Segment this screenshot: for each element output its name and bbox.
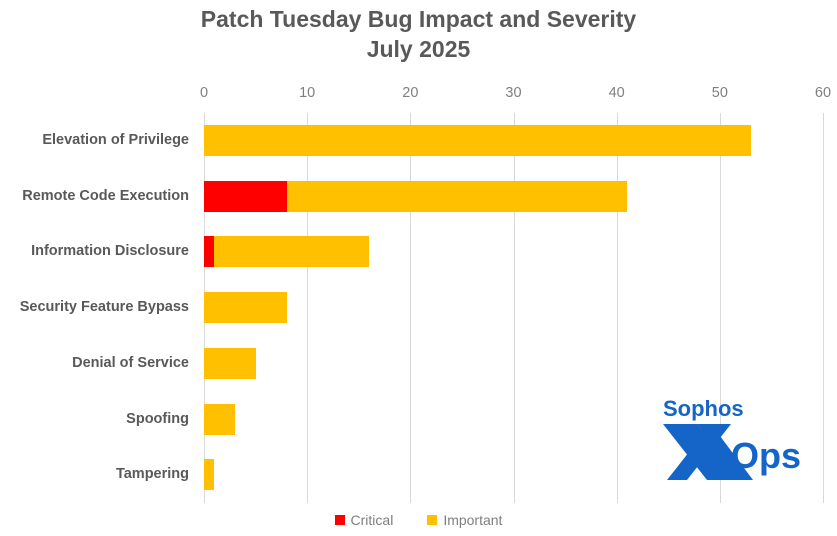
bar-important-spoofing[interactable] [204, 404, 235, 435]
legend-swatch-important [427, 515, 437, 525]
legend-item-critical[interactable]: Critical [335, 512, 394, 528]
x-axis-tick-label: 40 [597, 85, 637, 101]
category-label-security-feature-bypass: Security Feature Bypass [0, 292, 189, 323]
logo-brand-text: Sophos [663, 396, 744, 421]
x-axis-tick-label: 50 [700, 85, 740, 101]
x-axis-tick-label: 30 [494, 85, 534, 101]
bar-critical-information-disclosure[interactable] [204, 236, 214, 267]
bar-important-security-feature-bypass[interactable] [204, 292, 287, 323]
bar-important-denial-of-service[interactable] [204, 348, 256, 379]
chart-row: Denial of Service [204, 336, 823, 392]
chart-row: Security Feature Bypass [204, 280, 823, 336]
bar-important-elevation-of-privilege[interactable] [204, 125, 751, 156]
chart-legend: CriticalImportant [0, 512, 837, 528]
category-label-denial-of-service: Denial of Service [0, 348, 189, 379]
chart-row: Information Disclosure [204, 224, 823, 280]
category-label-remote-code-execution: Remote Code Execution [0, 181, 189, 212]
gridline [823, 113, 824, 503]
chart-container: Patch Tuesday Bug Impact and Severity Ju… [0, 0, 837, 536]
chart-title: Patch Tuesday Bug Impact and Severity Ju… [0, 4, 837, 64]
bar-important-information-disclosure[interactable] [214, 236, 369, 267]
legend-label: Critical [351, 512, 394, 528]
x-axis-tick-label: 0 [184, 85, 224, 101]
category-label-information-disclosure: Information Disclosure [0, 236, 189, 267]
chart-row: Remote Code Execution [204, 169, 823, 225]
legend-label: Important [443, 512, 502, 528]
chart-title-line-1: Patch Tuesday Bug Impact and Severity [201, 6, 636, 32]
category-label-tampering: Tampering [0, 459, 189, 490]
bar-important-tampering[interactable] [204, 459, 214, 490]
bar-critical-remote-code-execution[interactable] [204, 181, 287, 212]
legend-swatch-critical [335, 515, 345, 525]
x-axis-tick-label: 60 [803, 85, 837, 101]
sophos-x-ops-logo: Sophos -Ops [657, 394, 817, 482]
bar-important-remote-code-execution[interactable] [287, 181, 627, 212]
legend-item-important[interactable]: Important [427, 512, 502, 528]
chart-row: Elevation of Privilege [204, 113, 823, 169]
logo-product-text: -Ops [719, 435, 801, 476]
category-label-elevation-of-privilege: Elevation of Privilege [0, 125, 189, 156]
x-axis-tick-label: 10 [287, 85, 327, 101]
x-axis-tick-label: 20 [390, 85, 430, 101]
chart-title-line-2: July 2025 [0, 34, 837, 64]
category-label-spoofing: Spoofing [0, 404, 189, 435]
